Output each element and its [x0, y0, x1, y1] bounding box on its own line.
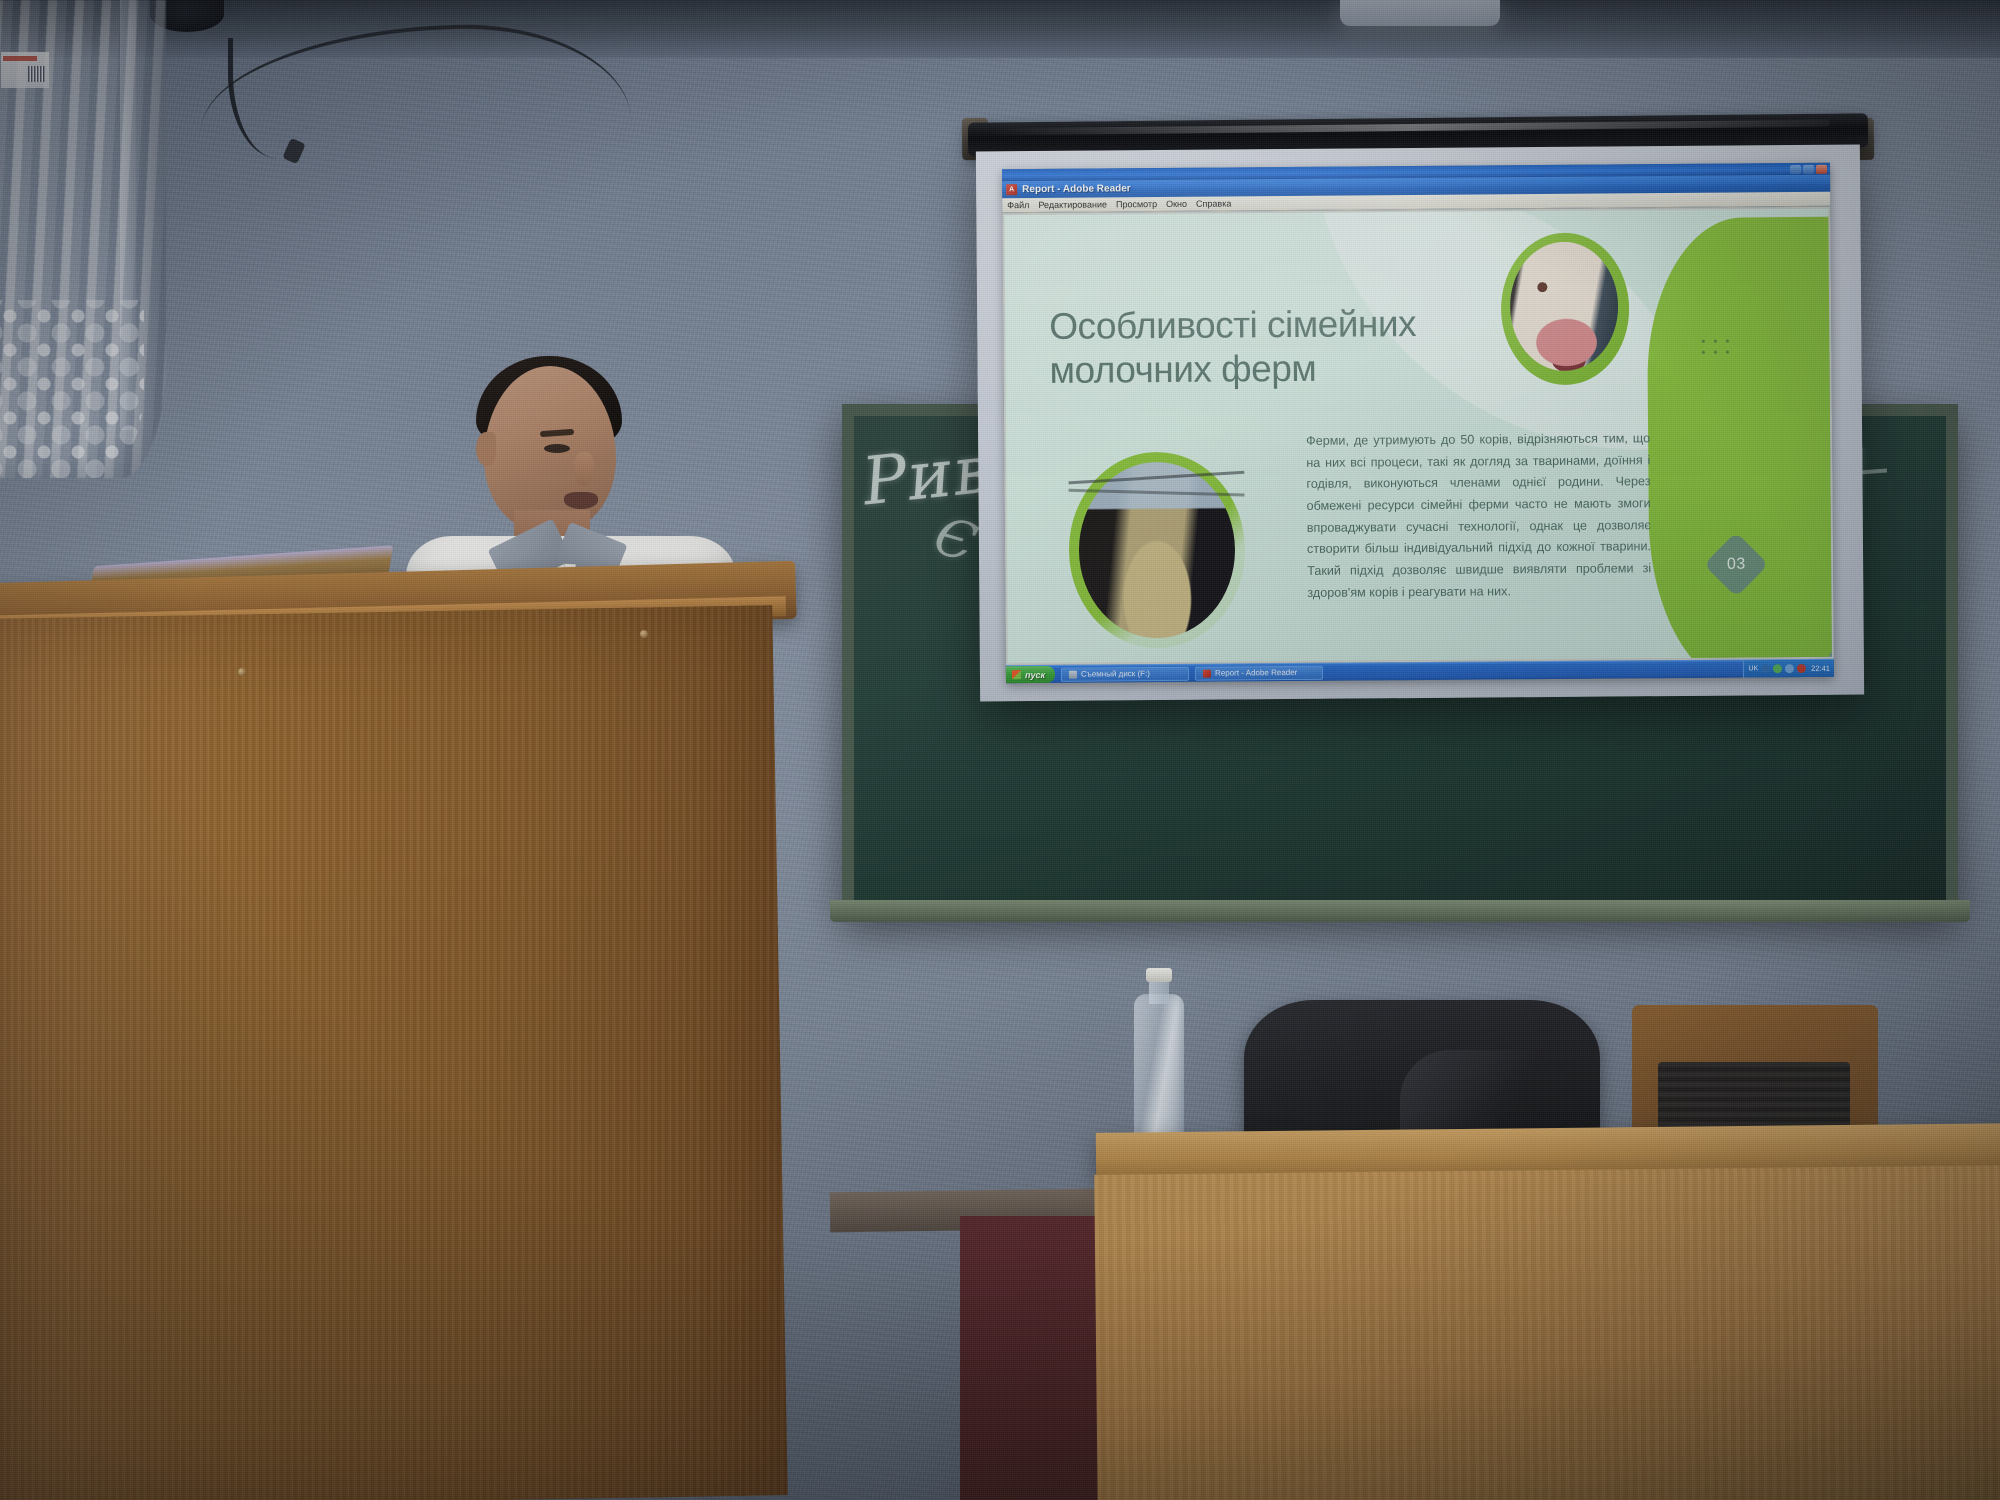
cow-head-photo: [1501, 232, 1630, 385]
system-tray[interactable]: UK 22:41: [1743, 660, 1834, 678]
taskbar-clock: 22:41: [1811, 664, 1830, 673]
windows-flag-icon: [1012, 670, 1021, 679]
tray-search-icon[interactable]: [1785, 664, 1794, 673]
slide-body-text: Ферми, де утримують до 50 корів, відрізн…: [1306, 428, 1651, 604]
slide-title: Особливості сімейних молочних ферм: [1049, 302, 1480, 393]
menu-item-window[interactable]: Окно: [1166, 199, 1187, 209]
barn-roof-beam: [1078, 470, 1235, 484]
maximize-icon[interactable]: [1803, 164, 1814, 173]
adobe-reader-window[interactable]: A Report - Adobe Reader Файл Редактирова…: [1002, 163, 1834, 683]
projection-screen: A Report - Adobe Reader Файл Редактирова…: [976, 145, 1864, 702]
menu-item-file[interactable]: Файл: [1007, 200, 1029, 210]
dairy-barn-interior-photo: [1068, 451, 1246, 648]
minimize-icon[interactable]: [1790, 164, 1801, 173]
menu-item-edit[interactable]: Редактирование: [1038, 199, 1107, 210]
presentation-slide: 03 Особливості сімейних молочних ферм Фе…: [1004, 209, 1831, 663]
document-viewport[interactable]: 03 Особливості сімейних молочних ферм Фе…: [1002, 207, 1834, 665]
tray-shield-icon[interactable]: [1773, 664, 1782, 673]
lectern-body: [0, 605, 788, 1500]
taskbar-item-adobe-reader[interactable]: Report - Adobe Reader: [1195, 665, 1323, 680]
pdf-icon: [1203, 669, 1211, 677]
window-title: Report - Adobe Reader: [1022, 183, 1131, 195]
curtain-lace-pattern: [0, 300, 144, 478]
bottle-label-brand-stripe: [3, 56, 37, 61]
ceiling-light-fixture: [1340, 0, 1500, 26]
table-body: [1094, 1165, 2000, 1500]
start-button[interactable]: пуск: [1006, 666, 1055, 683]
lectern-screw: [238, 668, 246, 676]
water-bottle: [1134, 968, 1184, 1154]
tray-antivirus-icon[interactable]: [1797, 664, 1806, 673]
language-indicator[interactable]: UK: [1748, 665, 1758, 672]
cow-head-image: [1510, 241, 1619, 371]
close-icon[interactable]: [1816, 164, 1827, 173]
pdf-icon: A: [1006, 184, 1017, 195]
presenter-eye: [544, 444, 570, 453]
presenter-ear: [476, 432, 496, 466]
barn-roof-beam-2: [1078, 489, 1235, 497]
start-button-label: пуск: [1025, 669, 1045, 679]
removable-drive-icon: [1069, 670, 1077, 678]
decorative-green-shape: [1646, 217, 1831, 664]
lecture-room-scene: Рив.М Є A Report - Adobe Reader Файл Ред…: [0, 0, 2000, 1500]
bottle-label-barcode: [28, 66, 45, 82]
dot-grid-pattern-icon: [1697, 336, 1733, 358]
chalkboard-ledge: [830, 900, 1970, 922]
taskbar-item-removable-drive[interactable]: Съемный диск (F:): [1061, 666, 1189, 681]
barn-interior-image: [1078, 461, 1235, 638]
bottle-cap: [1146, 968, 1172, 982]
taskbar-item-label: Report - Adobe Reader: [1215, 668, 1297, 678]
slide-number-text: 03: [1727, 555, 1746, 573]
presenter-nose: [574, 452, 594, 486]
bottle-body: [1134, 994, 1184, 1154]
lectern-screw-2: [640, 630, 648, 638]
presenter-mouth: [564, 492, 598, 509]
menu-item-help[interactable]: Справка: [1196, 198, 1231, 208]
taskbar-item-label: Съемный диск (F:): [1081, 669, 1150, 679]
menu-item-view[interactable]: Просмотр: [1116, 199, 1157, 209]
tray-network-icon[interactable]: [1761, 664, 1770, 673]
